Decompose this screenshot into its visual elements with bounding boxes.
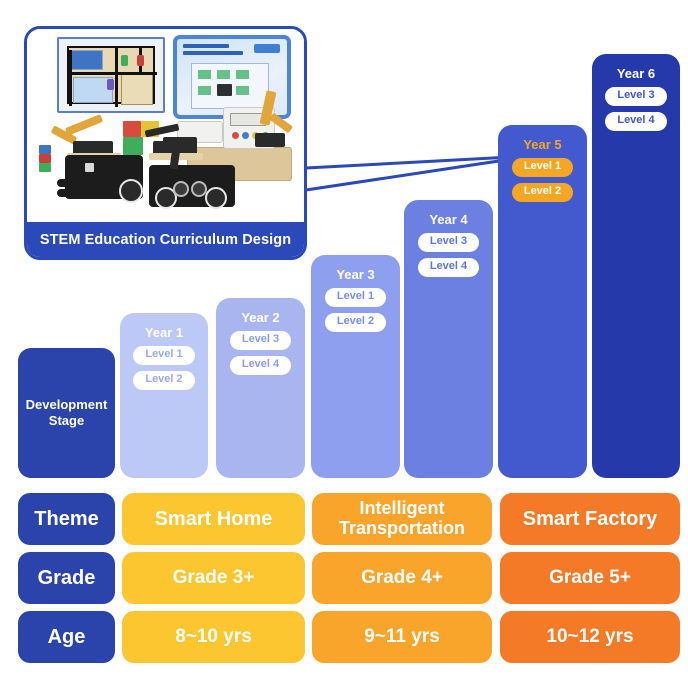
curriculum-photo-card: STEM Education Curriculum Design <box>24 26 307 260</box>
year-bar-2-level-2[interactable]: Level 4 <box>230 356 291 375</box>
age-cell-3[interactable]: 10~12 yrs <box>500 611 680 663</box>
year-bar-1-level-1[interactable]: Level 1 <box>133 346 194 365</box>
stage-label-line1: Development <box>26 397 108 413</box>
grade-cell-2[interactable]: Grade 4+ <box>312 552 492 604</box>
row-label-theme: Theme <box>18 493 115 545</box>
year-bar-3-title: Year 3 <box>336 267 374 282</box>
robotic-arm-left <box>43 115 115 157</box>
year-bar-1-level-2[interactable]: Level 2 <box>133 371 194 390</box>
age-cell-2[interactable]: 9~11 yrs <box>312 611 492 663</box>
theme-cell-intelligent-transportation[interactable]: Intelligent Transportation <box>312 493 492 545</box>
year-bar-3-level-2[interactable]: Level 2 <box>325 313 386 332</box>
year-bar-5[interactable]: Year 5 Level 1 Level 2 <box>498 125 587 478</box>
year-bar-3-level-1[interactable]: Level 1 <box>325 288 386 307</box>
factory-floorplan-poster <box>57 37 165 113</box>
robotic-arm-right <box>249 89 297 151</box>
development-stage-box: Development Stage <box>18 348 115 478</box>
year-bar-6-level-2[interactable]: Level 4 <box>605 112 666 131</box>
row-label-age: Age <box>18 611 115 663</box>
age-cell-1[interactable]: 8~10 yrs <box>122 611 305 663</box>
year-bar-1-title: Year 1 <box>145 325 183 340</box>
theme-cell-smart-home[interactable]: Smart Home <box>122 493 305 545</box>
year-bar-5-title: Year 5 <box>523 137 561 152</box>
year-bar-2-level-1[interactable]: Level 3 <box>230 331 291 350</box>
product-photo <box>27 29 304 225</box>
grade-cell-1[interactable]: Grade 3+ <box>122 552 305 604</box>
infographic-root: STEM Education Curriculum Design Develop… <box>0 0 688 680</box>
stage-label-line2: Stage <box>26 413 108 429</box>
theme-cell-smart-factory[interactable]: Smart Factory <box>500 493 680 545</box>
row-label-grade: Grade <box>18 552 115 604</box>
card-title: STEM Education Curriculum Design <box>26 222 305 258</box>
year-bar-5-level-2[interactable]: Level 2 <box>512 183 573 202</box>
year-bar-6[interactable]: Year 6 Level 3 Level 4 <box>592 54 680 478</box>
year-bar-5-level-1[interactable]: Level 1 <box>512 158 573 177</box>
year-bar-3[interactable]: Year 3 Level 1 Level 2 <box>311 255 400 478</box>
year-bar-4-level-1[interactable]: Level 3 <box>418 233 479 252</box>
year-bar-6-title: Year 6 <box>617 66 655 81</box>
grade-cell-3[interactable]: Grade 5+ <box>500 552 680 604</box>
year-bar-6-level-1[interactable]: Level 3 <box>605 87 666 106</box>
year-bar-4[interactable]: Year 4 Level 3 Level 4 <box>404 200 493 478</box>
year-bar-4-level-2[interactable]: Level 4 <box>418 258 479 277</box>
year-bar-1[interactable]: Year 1 Level 1 Level 2 <box>120 313 208 478</box>
year-bar-4-title: Year 4 <box>429 212 467 227</box>
year-bar-2[interactable]: Year 2 Level 3 Level 4 <box>216 298 305 478</box>
year-bar-2-title: Year 2 <box>241 310 279 325</box>
